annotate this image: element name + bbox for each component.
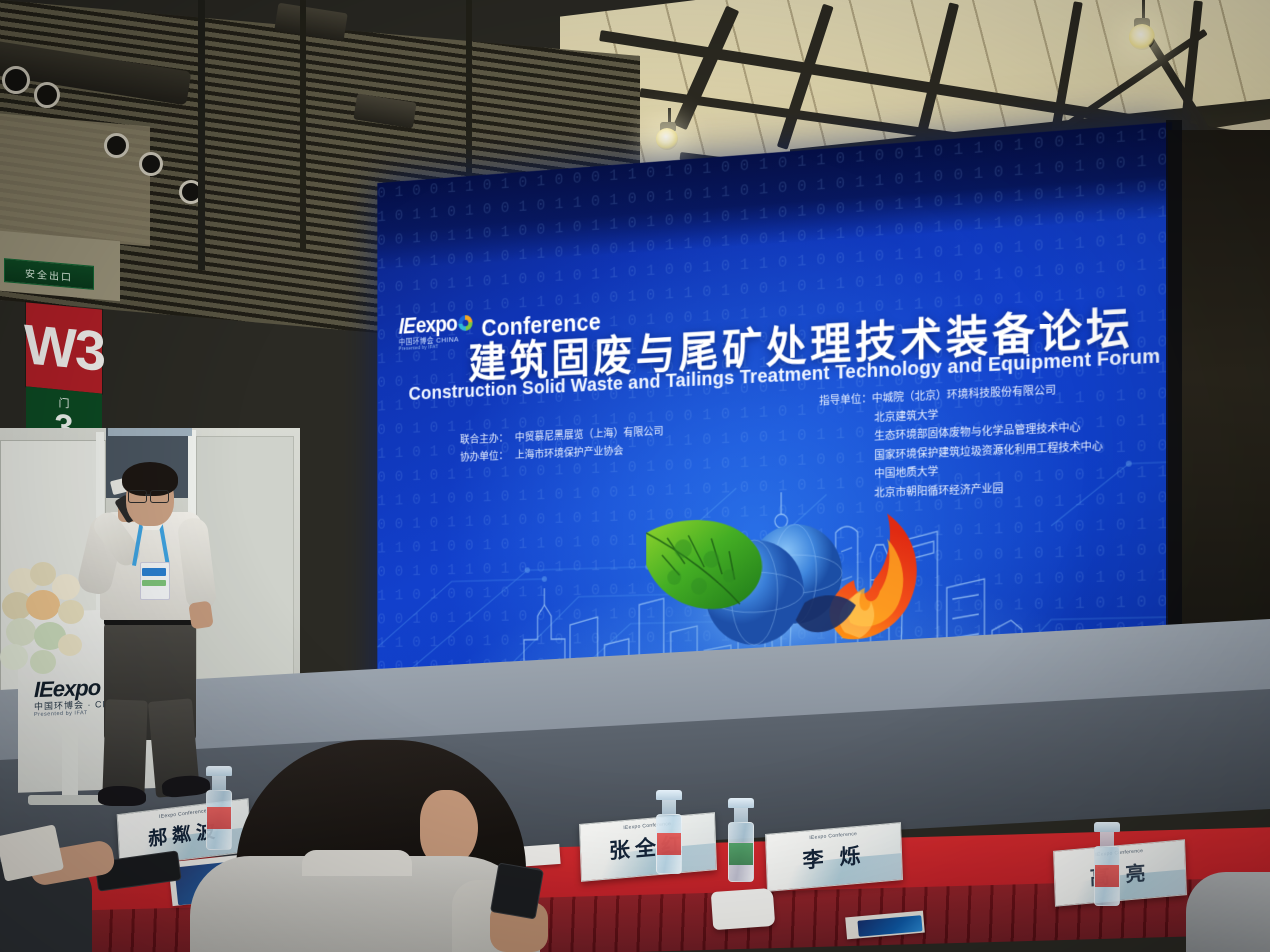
bottle-neck [662,800,676,814]
organizer-value: 中贸慕尼黑展览（上海）有限公司 [515,426,664,444]
bottle-label [1095,865,1119,887]
badge-stripe [142,580,166,586]
speaker-shoe-left [98,786,146,806]
duct-outlet [34,82,60,108]
name-card-label: 李 烁 [802,839,866,874]
bottle-neck [1100,832,1114,846]
water-bottle [206,766,232,850]
audience-smartphone [490,862,544,919]
audience-ear-side [420,790,478,866]
speaker-hand-right [188,601,213,630]
hall-code-label: W3 [24,316,104,380]
name-card: IEexpo Conference 高 亮 [1053,839,1187,906]
bottle-label [657,833,681,855]
bottle-cap [656,790,682,800]
tissue [711,888,775,930]
water-bottle [656,790,682,874]
bottle-body [1094,846,1120,906]
pendant-lamp [656,128,678,150]
duct-outlet [104,133,129,158]
wall-column [198,0,205,270]
exit-sign-label: 安全出口 [25,264,73,283]
water-bottle [728,798,754,882]
bottle-label [729,843,753,865]
organizer-key: 联合主办： [460,430,512,450]
bottle-body [728,822,754,882]
eyeglasses-bridge [145,494,151,496]
name-card: IEexpo Conference 李 烁 [765,822,903,892]
ieexpo-logo: IEexpo 中国环博会 CHINA Presented by IFAT [399,312,473,352]
water-bottle [1094,822,1120,906]
bottle-body [206,790,232,850]
wall-column [300,0,306,250]
speaker-leg-left [102,699,147,798]
pendant-lamp [1129,24,1155,50]
badge-stripe [142,568,166,576]
logo-ie-text: IE [399,316,415,338]
bottle-cap [728,798,754,808]
guidance-key: 指导单位： [819,390,872,411]
hall-code-sign: W3 [26,302,102,393]
audience-collar [302,850,412,876]
eyeglasses-right-lens [150,490,169,503]
bottle-body [656,814,682,874]
organizer-value: 上海市环境保护产业协会 [515,446,623,462]
wall-block [0,113,150,246]
bottle-cap [206,766,232,776]
logo-expo-text: expo [416,313,457,337]
conference-photo-scene: 安全出口 W3 门 3 0100110101000110101001011010… [0,0,1270,952]
bottle-neck [212,776,226,790]
organizer-key: 协办单位： [460,448,512,468]
audience-right-shoulder [1186,872,1270,952]
bottle-cap [1094,822,1120,832]
color-wheel-icon [459,315,473,331]
booth-header [108,428,192,436]
name-card: IEexpo Conference 张全红 [579,812,717,882]
podium-stand [62,730,78,800]
bottle-neck [734,808,748,822]
guidance-units-block: 指导单位：中城院（北京）环境科技股份有限公司 北京建筑大学 生态环境部固体废物与… [819,379,1103,505]
eyeglasses-left-lens [128,490,147,503]
duct-outlet [139,152,163,176]
bottle-label [207,807,231,829]
